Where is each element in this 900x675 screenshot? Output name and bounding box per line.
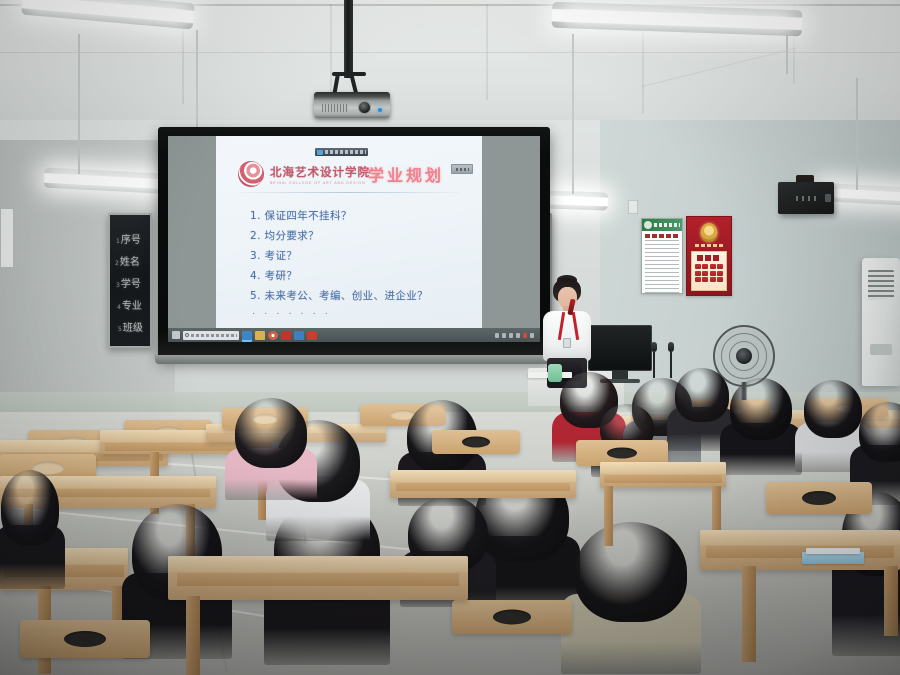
desk-leg [884, 566, 898, 636]
windows-taskbar[interactable] [168, 328, 540, 342]
chair-hole [802, 491, 836, 505]
speaker-badge [825, 194, 831, 202]
projector-lens [358, 101, 371, 114]
chalk-number: 5 [118, 326, 122, 333]
water-bottle [548, 364, 562, 382]
chair-back [452, 600, 572, 634]
classroom-scene: 1序号 2姓名 3学号 4专业 5班级 北海艺术设计学院 BEIHAI COLL… [0, 0, 900, 675]
chalk-text: 班级 [123, 323, 143, 334]
toolbar-label [325, 150, 366, 154]
values-grid [692, 264, 726, 282]
chalk-number: 1 [116, 238, 120, 245]
bullet-item: 3. 考证？ [250, 248, 428, 263]
chair-hole [607, 448, 637, 459]
desk-leg [604, 486, 613, 546]
bullet-item: 5. 未来考公、考编、创业、进企业？ [250, 288, 428, 303]
chalk-number: 4 [117, 304, 121, 311]
school-name-cn: 北海艺术设计学院 [270, 164, 370, 180]
chair-back [20, 620, 150, 658]
ac-control-panel[interactable] [870, 344, 892, 355]
light-rod [786, 34, 788, 74]
desk-leg [186, 596, 200, 675]
taskbar-app-pdf[interactable] [307, 331, 317, 340]
student-head [1, 470, 59, 546]
student-head [575, 522, 687, 622]
toolbar-icon [317, 150, 323, 155]
bullet-ellipsis: · · · · · · · [252, 308, 331, 319]
paper-sheet [806, 548, 860, 554]
projector-vent [322, 104, 348, 112]
taskbar-app-folder[interactable] [255, 331, 265, 340]
start-button-icon[interactable] [172, 331, 180, 339]
light-rod [856, 78, 858, 190]
ceiling-projector [314, 92, 390, 118]
show-desktop-button[interactable] [530, 333, 534, 338]
light-rod [572, 34, 574, 194]
presenter-shirt [543, 311, 591, 361]
student [232, 398, 310, 498]
poster-core-values [686, 216, 732, 296]
interactive-whiteboard[interactable]: 北海艺术设计学院 BEIHAI COLLEGE OF ART AND DESIG… [158, 127, 550, 358]
ceiling-seam [486, 4, 488, 100]
spiral-logo-icon [235, 158, 268, 191]
national-emblem-icon [701, 223, 718, 242]
tray-icon[interactable] [502, 333, 506, 338]
button-glyph [456, 168, 469, 171]
chalk-text: 序号 [121, 235, 141, 246]
search-placeholder [191, 334, 237, 337]
desk [600, 462, 726, 488]
slide-title: 学业规划 [368, 162, 444, 186]
air-conditioner [862, 258, 900, 386]
taskbar-app-media[interactable] [294, 331, 304, 340]
bullet-item: 2. 均分要求？ [250, 228, 428, 243]
presentation-slide[interactable]: 北海艺术设计学院 BEIHAI COLLEGE OF ART AND DESIG… [216, 136, 482, 328]
taskbar-app-browser[interactable] [268, 331, 278, 340]
chalk-number: 3 [116, 282, 120, 289]
student [726, 378, 796, 476]
display-letterbox [168, 136, 216, 328]
poster-card-title [697, 255, 721, 261]
chair-hole [493, 610, 531, 625]
poster-card [691, 251, 727, 291]
poster-title-bar [645, 234, 679, 238]
school-name-en: BEIHAI COLLEGE OF ART AND DESIGN [270, 181, 370, 185]
poster-header-text [654, 223, 680, 227]
wall-speaker [778, 182, 834, 214]
chalkboard-left: 1序号 2姓名 3学号 4专业 5班级 [108, 213, 152, 348]
whiteboard-display[interactable]: 北海艺术设计学院 BEIHAI COLLEGE OF ART AND DESIG… [168, 136, 540, 342]
tray-icon-alert[interactable] [523, 333, 527, 338]
ac-vent [868, 270, 894, 300]
tray-icon[interactable] [516, 333, 520, 338]
bullet-item: 4. 考研？ [250, 268, 428, 283]
tray-icon[interactable] [495, 333, 499, 338]
desk [700, 530, 900, 570]
chair-back [766, 482, 872, 514]
chair-back [432, 430, 520, 454]
school-logo: 北海艺术设计学院 BEIHAI COLLEGE OF ART AND DESIG… [238, 161, 370, 187]
microphone [668, 342, 674, 352]
search-icon [185, 333, 189, 337]
system-tray[interactable] [492, 333, 536, 338]
poster-header [642, 219, 682, 231]
title-divider [238, 192, 460, 193]
taskbar-search-input[interactable] [183, 331, 239, 340]
display-letterbox [482, 136, 540, 328]
chalk-text: 学号 [121, 279, 141, 290]
school-seal-icon [644, 221, 652, 229]
light-rod [78, 34, 80, 174]
student-head [804, 380, 862, 438]
tray-icon[interactable] [509, 333, 513, 338]
chair-hole [64, 631, 106, 647]
student [0, 470, 60, 600]
presenter-id-badge [563, 338, 571, 348]
ceiling-seam [0, 52, 900, 53]
student-head [859, 402, 900, 462]
wall-notice [0, 208, 14, 268]
chalk-text: 姓名 [120, 257, 140, 268]
desk [168, 556, 468, 600]
poster-subtitle [695, 244, 723, 247]
bullet-item: 1. 保证四年不挂科？ [250, 208, 428, 223]
fan-hub [736, 348, 752, 364]
projector-pole [344, 0, 353, 78]
taskbar-app-wps[interactable] [281, 331, 291, 340]
chalk-text: 专业 [122, 301, 142, 312]
poster-green-notice [641, 218, 683, 294]
microphone [651, 342, 657, 352]
student-head [235, 398, 307, 468]
slide-corner-button[interactable] [451, 164, 473, 174]
student-head [675, 368, 729, 422]
desk-leg [742, 566, 756, 662]
chair-hole [462, 437, 490, 448]
desk-leg [712, 486, 721, 534]
projector-power-led [378, 108, 382, 112]
chalk-number: 2 [115, 260, 119, 267]
wall-notice [628, 200, 638, 214]
speaker-grille [796, 196, 820, 201]
slide-bullet-list: 1. 保证四年不挂科？ 2. 均分要求？ 3. 考证？ 4. 考研？ 5. 未来… [250, 208, 428, 303]
taskbar-app-explorer[interactable] [242, 331, 252, 340]
student [568, 522, 694, 675]
slide-toolbar[interactable] [315, 148, 368, 156]
school-name: 北海艺术设计学院 BEIHAI COLLEGE OF ART AND DESIG… [270, 164, 370, 185]
microphone-stem [653, 352, 655, 378]
student-head [730, 378, 792, 440]
desk [390, 470, 576, 498]
poster-body-text [645, 240, 679, 294]
